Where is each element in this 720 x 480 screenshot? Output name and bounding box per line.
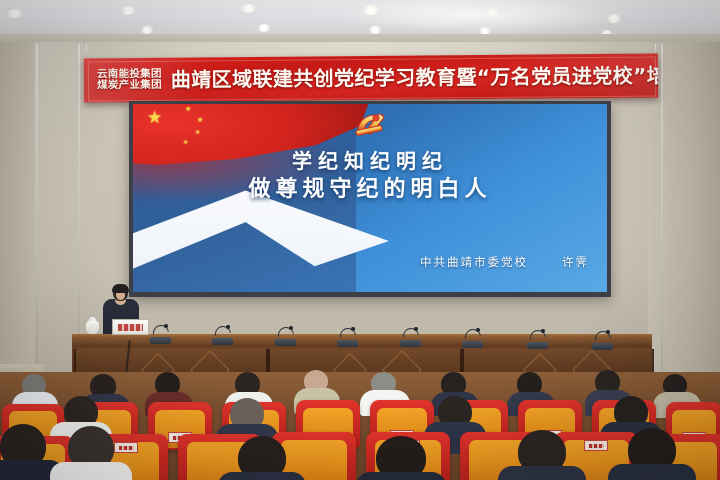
downlight-icon xyxy=(606,14,622,23)
slide-title-line1: 学纪知纪明纪 xyxy=(133,148,607,174)
downlight-icon xyxy=(484,8,501,17)
slide-footer: 中共曲靖市委党校 许霁 xyxy=(420,254,589,270)
downlight-icon xyxy=(6,9,24,18)
banner-string xyxy=(86,44,87,58)
downlight-icon xyxy=(240,4,257,13)
nameplate-text xyxy=(118,324,143,331)
banner-title: 曲靖区域联建共创党纪学习教育暨“万名党员进党校”培训班 xyxy=(171,64,658,91)
wall-seam xyxy=(36,44,38,374)
slide-presenter: 许霁 xyxy=(562,254,589,270)
flag-star-icon: ★ xyxy=(147,110,162,127)
projection-screen: ★ ★ ★ ★ ★ xyxy=(133,104,607,292)
flag-star-icon: ★ xyxy=(195,130,200,136)
wall-left-return xyxy=(0,42,34,372)
event-banner: 云南能投集团 煤炭产业集团 曲靖区域联建共创党纪学习教育暨“万名党员进党校”培训… xyxy=(84,53,658,102)
downlight-icon xyxy=(120,6,137,15)
flag-star-icon: ★ xyxy=(183,140,188,146)
slide-title-line2: 做尊规守纪的明白人 xyxy=(133,175,607,205)
wall-seam xyxy=(78,44,80,374)
flag-star-icon: ★ xyxy=(197,117,203,124)
downlight-icon xyxy=(362,5,380,15)
speaker-nameplate xyxy=(112,319,149,335)
downlight-icon xyxy=(368,26,382,34)
flag-star-icon: ★ xyxy=(185,106,191,113)
teapot-lid xyxy=(89,317,96,321)
wall-seam xyxy=(661,44,663,380)
downlight-icon xyxy=(140,26,154,34)
cpc-emblem-icon xyxy=(349,109,391,143)
banner-organization: 云南能投集团 煤炭产业集团 xyxy=(97,68,162,92)
seat-label xyxy=(584,440,608,451)
downlight-icon xyxy=(257,24,271,32)
speaker-hair xyxy=(112,284,129,293)
teapot xyxy=(86,320,99,334)
slide-title: 学纪知纪明纪 做尊规守纪的明白人 xyxy=(133,148,607,205)
seat-label xyxy=(114,442,138,453)
slide-institution: 中共曲靖市委党校 xyxy=(420,254,528,270)
conference-hall-photo: 云南能投集团 煤炭产业集团 曲靖区域联建共创党纪学习教育暨“万名党员进党校”培训… xyxy=(0,0,720,480)
wall-right-panel xyxy=(648,42,720,380)
banner-org-line2: 煤炭产业集团 xyxy=(97,79,162,92)
